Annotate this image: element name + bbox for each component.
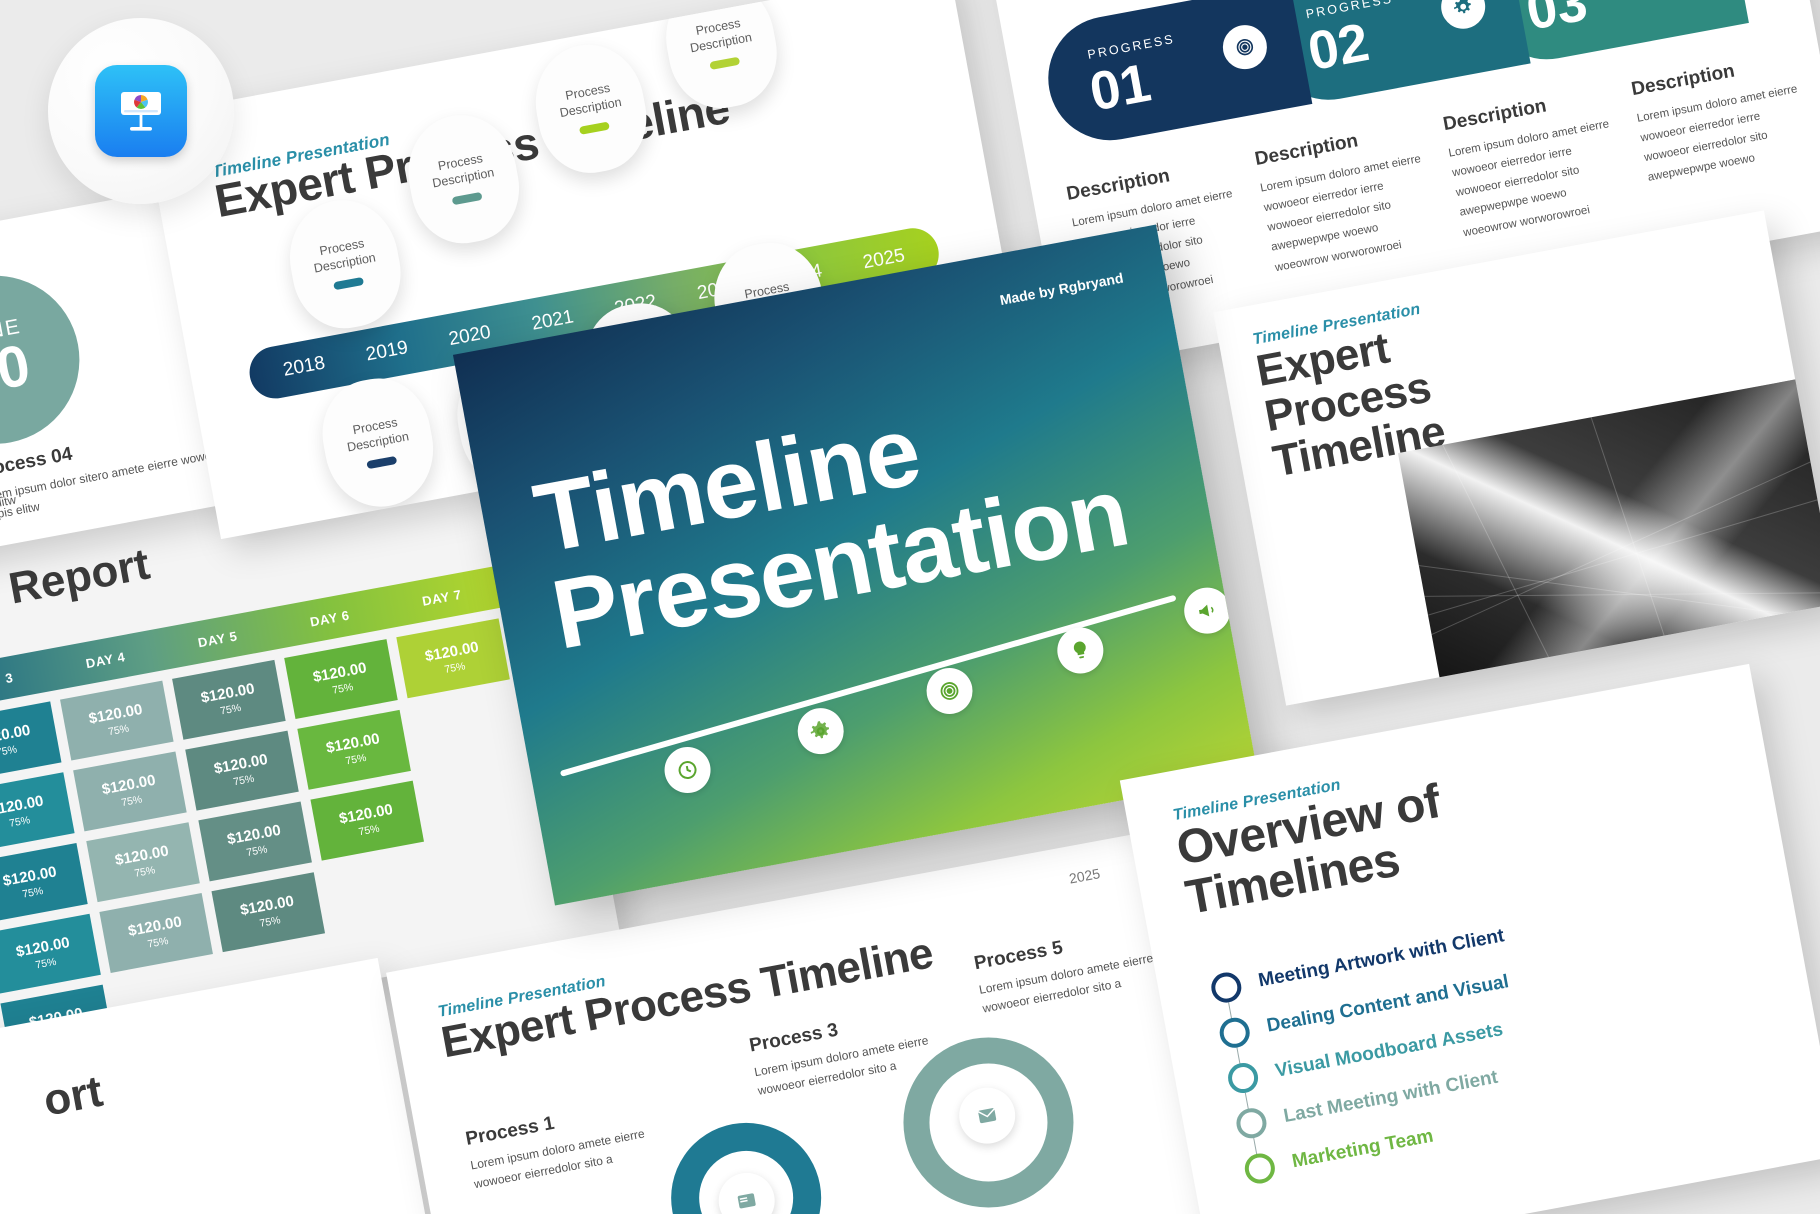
report-cell[interactable]: $120.0075% (0, 701, 61, 781)
cell-percent: 75% (120, 793, 143, 809)
pod-dash (366, 456, 397, 469)
pod-text: ProcessDescription (343, 413, 410, 455)
progress-number: 01 (1085, 52, 1155, 124)
pod-dash (333, 277, 364, 290)
cell-percent: 75% (107, 722, 130, 738)
timeline-bullet-icon (1217, 1015, 1252, 1050)
process-5-block: Process 5 Lorem ipsum doloro amete eierr… (972, 921, 1161, 1018)
year-label-2025: 2025 (861, 245, 907, 274)
report-cell[interactable]: $120.0075% (0, 914, 101, 994)
pod-dash (579, 122, 610, 135)
cell-value: $120.00 (338, 800, 394, 827)
cell-value: $120.00 (424, 638, 480, 665)
cell-percent: 75% (331, 681, 354, 697)
year-label-2019: 2019 (364, 337, 410, 366)
progress-segment-01[interactable]: PROGRESS01 (1038, 0, 1312, 150)
year-label-2020: 2020 (447, 322, 493, 351)
description-column-4: DescriptionLorem ipsum doloro amet eierr… (1630, 49, 1817, 208)
report-cell[interactable]: $120.0075% (297, 710, 411, 790)
description-column-2: DescriptionLorem ipsum doloro amet eierr… (1253, 119, 1440, 278)
cell-percent: 75% (358, 822, 381, 838)
timeline-bullet-icon (1234, 1106, 1269, 1141)
pod-dash (709, 57, 740, 70)
date-circle: JUNE 30 (0, 262, 93, 458)
pod-text: ProcessDescription (310, 235, 377, 277)
gear-icon (1438, 0, 1489, 32)
report-cell[interactable]: $120.0075% (73, 751, 187, 831)
report-cell[interactable]: $120.0075% (0, 772, 75, 852)
target-icon (1219, 22, 1270, 73)
gear-icon (794, 704, 848, 758)
cell-value: $120.00 (127, 913, 183, 940)
timeline-bullet-icon (1242, 1151, 1277, 1186)
process-pod[interactable]: ProcessDescription (313, 370, 443, 516)
cell-value: $120.00 (199, 680, 255, 707)
cell-value: $120.00 (100, 771, 156, 798)
presentation-mockup-canvas: 2025 ...nal Timeline Report DAY 1$120.00… (0, 0, 1820, 1214)
report-cell[interactable]: $120.0075% (60, 681, 174, 761)
cell-percent: 75% (34, 955, 57, 971)
report-cell[interactable]: $120.0075% (0, 843, 88, 923)
report-column-header: DAY 3 (0, 650, 48, 710)
report-column-header: DAY 6 (275, 588, 385, 648)
year-label-2021: 2021 (530, 306, 576, 335)
cell-percent: 75% (219, 701, 242, 717)
keynote-app-badge[interactable] (48, 18, 234, 204)
process-pods: ProcessDescriptionProcessDescriptionProc… (143, 0, 949, 116)
report-column-header: DAY 4 (51, 630, 161, 690)
cell-value: $120.00 (15, 934, 71, 961)
hero-title: Timeline Presentation (527, 365, 1135, 664)
cell-percent: 75% (245, 843, 268, 859)
overview-list: Meeting Artwork with ClientDealing Conte… (1207, 913, 1541, 1193)
cell-value: $120.00 (1, 863, 57, 890)
report-cell[interactable]: $120.0075% (185, 731, 299, 811)
cell-percent: 75% (232, 772, 255, 788)
description-body: Lorem ipsum doloro amet eierre wowoeor e… (1259, 149, 1440, 278)
cell-value: $120.00 (226, 821, 282, 848)
megaphone-icon (1180, 584, 1234, 638)
cell-percent: 75% (259, 914, 282, 930)
cell-value: $120.00 (213, 750, 269, 777)
report-cell[interactable]: $120.0075% (172, 660, 286, 740)
year-label-2018: 2018 (281, 352, 327, 381)
cell-percent: 75% (8, 814, 31, 830)
process-3-block: Process 3 Lorem ipsum doloro amete eierr… (748, 1003, 937, 1100)
target-icon (923, 664, 977, 718)
author-credit: Made by Rgbryand (998, 270, 1124, 309)
description-column-3: DescriptionLorem ipsum doloro amet eierr… (1441, 84, 1628, 243)
cell-percent: 75% (146, 935, 169, 951)
pod-text: ProcessDescription (428, 149, 495, 191)
cell-value: $120.00 (311, 659, 367, 686)
process-1-block: Process 1 Lorem ipsum doloro amete eierr… (464, 1096, 653, 1193)
cell-percent: 75% (133, 864, 156, 880)
keynote-app-icon (95, 65, 187, 157)
process-pod[interactable]: ProcessDescription (280, 191, 410, 337)
description-body: Lorem ipsum doloro amet eierre wowoeor e… (1447, 114, 1628, 243)
cell-value: $120.00 (87, 700, 143, 727)
slide-year: 2025 (1068, 865, 1102, 886)
timeline-bullet-icon (1209, 970, 1244, 1005)
report-cell[interactable]: $120.0075% (284, 639, 398, 719)
report-column-header: DAY 7 (387, 567, 497, 627)
cell-percent: 75% (21, 884, 44, 900)
partial-report-title: ort (40, 1067, 107, 1127)
timeline-bullet-icon (1226, 1061, 1261, 1096)
cell-percent: 75% (344, 751, 367, 767)
progress-number: 03 (1522, 0, 1592, 43)
cell-value: $120.00 (114, 842, 170, 869)
progress-number: 02 (1303, 11, 1373, 83)
pod-text: ProcessDescription (686, 14, 753, 56)
report-cell[interactable]: $120.0075% (211, 872, 325, 952)
report-cell[interactable]: $120.0075% (310, 781, 424, 861)
report-cell[interactable]: $120.0075% (99, 893, 213, 973)
cell-percent: 75% (0, 743, 18, 759)
cell-value: $120.00 (325, 730, 381, 757)
date-day: 30 (0, 336, 34, 405)
clock-icon (661, 743, 715, 797)
report-cell[interactable]: $120.0075% (86, 822, 200, 902)
report-cell[interactable]: $120.0075% (198, 801, 312, 881)
pod-text: ProcessDescription (556, 79, 623, 121)
cell-percent: 75% (443, 660, 466, 676)
report-cell[interactable]: $120.0075% (396, 618, 510, 698)
report-column-header: DAY 5 (163, 609, 273, 669)
cell-value: $120.00 (239, 892, 295, 919)
pod-dash (452, 192, 483, 205)
